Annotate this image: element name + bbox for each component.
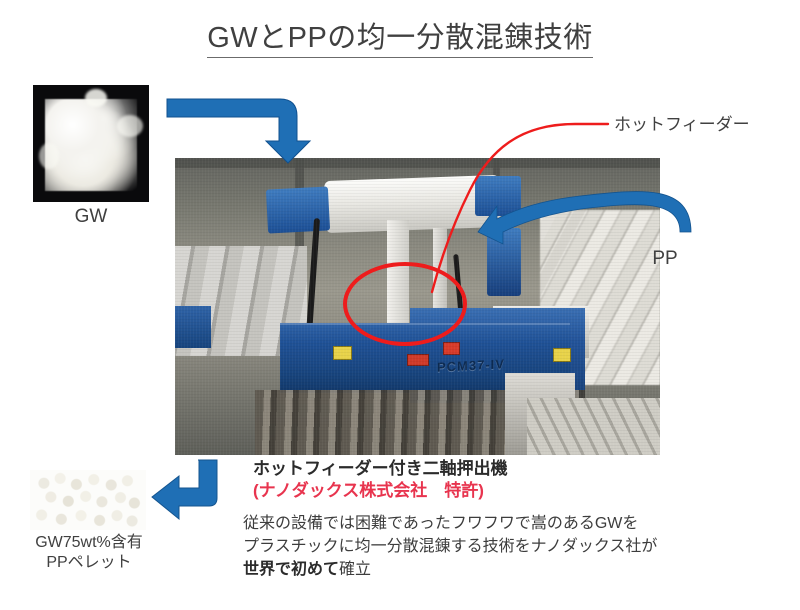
pellet-label-line2: PPペレット <box>0 553 178 573</box>
hot-feeder-label: ホットフィーダー <box>614 110 750 135</box>
machine-caption-line2: (ナノダックス株式会社 特許) <box>253 480 508 502</box>
gw-input-arrow <box>167 99 310 163</box>
pellet-label: GW75wt%含有 PPペレット <box>0 533 178 574</box>
page-title: GWとPPの均一分散混錬技術 <box>0 14 800 56</box>
feeder-drive-unit <box>487 228 521 296</box>
feeder-motor-left <box>266 186 330 233</box>
pellet-grains <box>30 470 146 530</box>
gw-material-photo <box>33 85 149 202</box>
glass-wool-wisp <box>85 89 107 107</box>
warning-sticker <box>407 354 429 366</box>
warning-sticker <box>553 348 571 362</box>
pellet-product-photo <box>30 470 146 530</box>
slide-canvas: GWとPPの均一分散混錬技術 GW PCM37-IV <box>0 0 800 610</box>
hot-feeder-highlight-ellipse <box>343 262 467 346</box>
glass-wool-shape <box>45 99 137 191</box>
pellet-label-line1: GW75wt%含有 <box>0 533 178 553</box>
feeder-motor-right <box>475 176 521 216</box>
machine-caption-line1: ホットフィーダー付き二軸押出機 <box>253 458 508 480</box>
warning-sticker <box>443 342 460 355</box>
body-paragraph: 従来の設備では困難であったフワフワで嵩のあるGWを プラスチックに均一分散混錬す… <box>243 512 657 582</box>
gw-label: GW <box>33 206 149 228</box>
page-title-text: GWとPPの均一分散混錬技術 <box>207 22 593 58</box>
conveyor-table <box>527 398 660 455</box>
body-paragraph-line1: 従来の設備では困難であったフワフワで嵩のあるGWを <box>243 512 657 535</box>
pp-label: PP <box>620 248 710 270</box>
machine-caption: ホットフィーダー付き二軸押出機 (ナノダックス株式会社 特許) <box>253 458 508 502</box>
ceiling-beam <box>175 158 660 168</box>
hopper-blue-motor <box>175 306 211 348</box>
body-paragraph-line3-rest: 確立 <box>339 561 371 578</box>
body-paragraph-emphasis: 世界で初めて <box>243 561 339 578</box>
pellet-output-arrow <box>152 460 217 519</box>
warning-sticker <box>333 346 352 360</box>
glass-wool-wisp <box>39 143 59 169</box>
body-paragraph-line3: 世界で初めて確立 <box>243 558 657 581</box>
glass-wool-wisp <box>117 115 143 137</box>
body-paragraph-line2: プラスチックに均一分散混錬する技術をナノダックス社が <box>243 535 657 558</box>
